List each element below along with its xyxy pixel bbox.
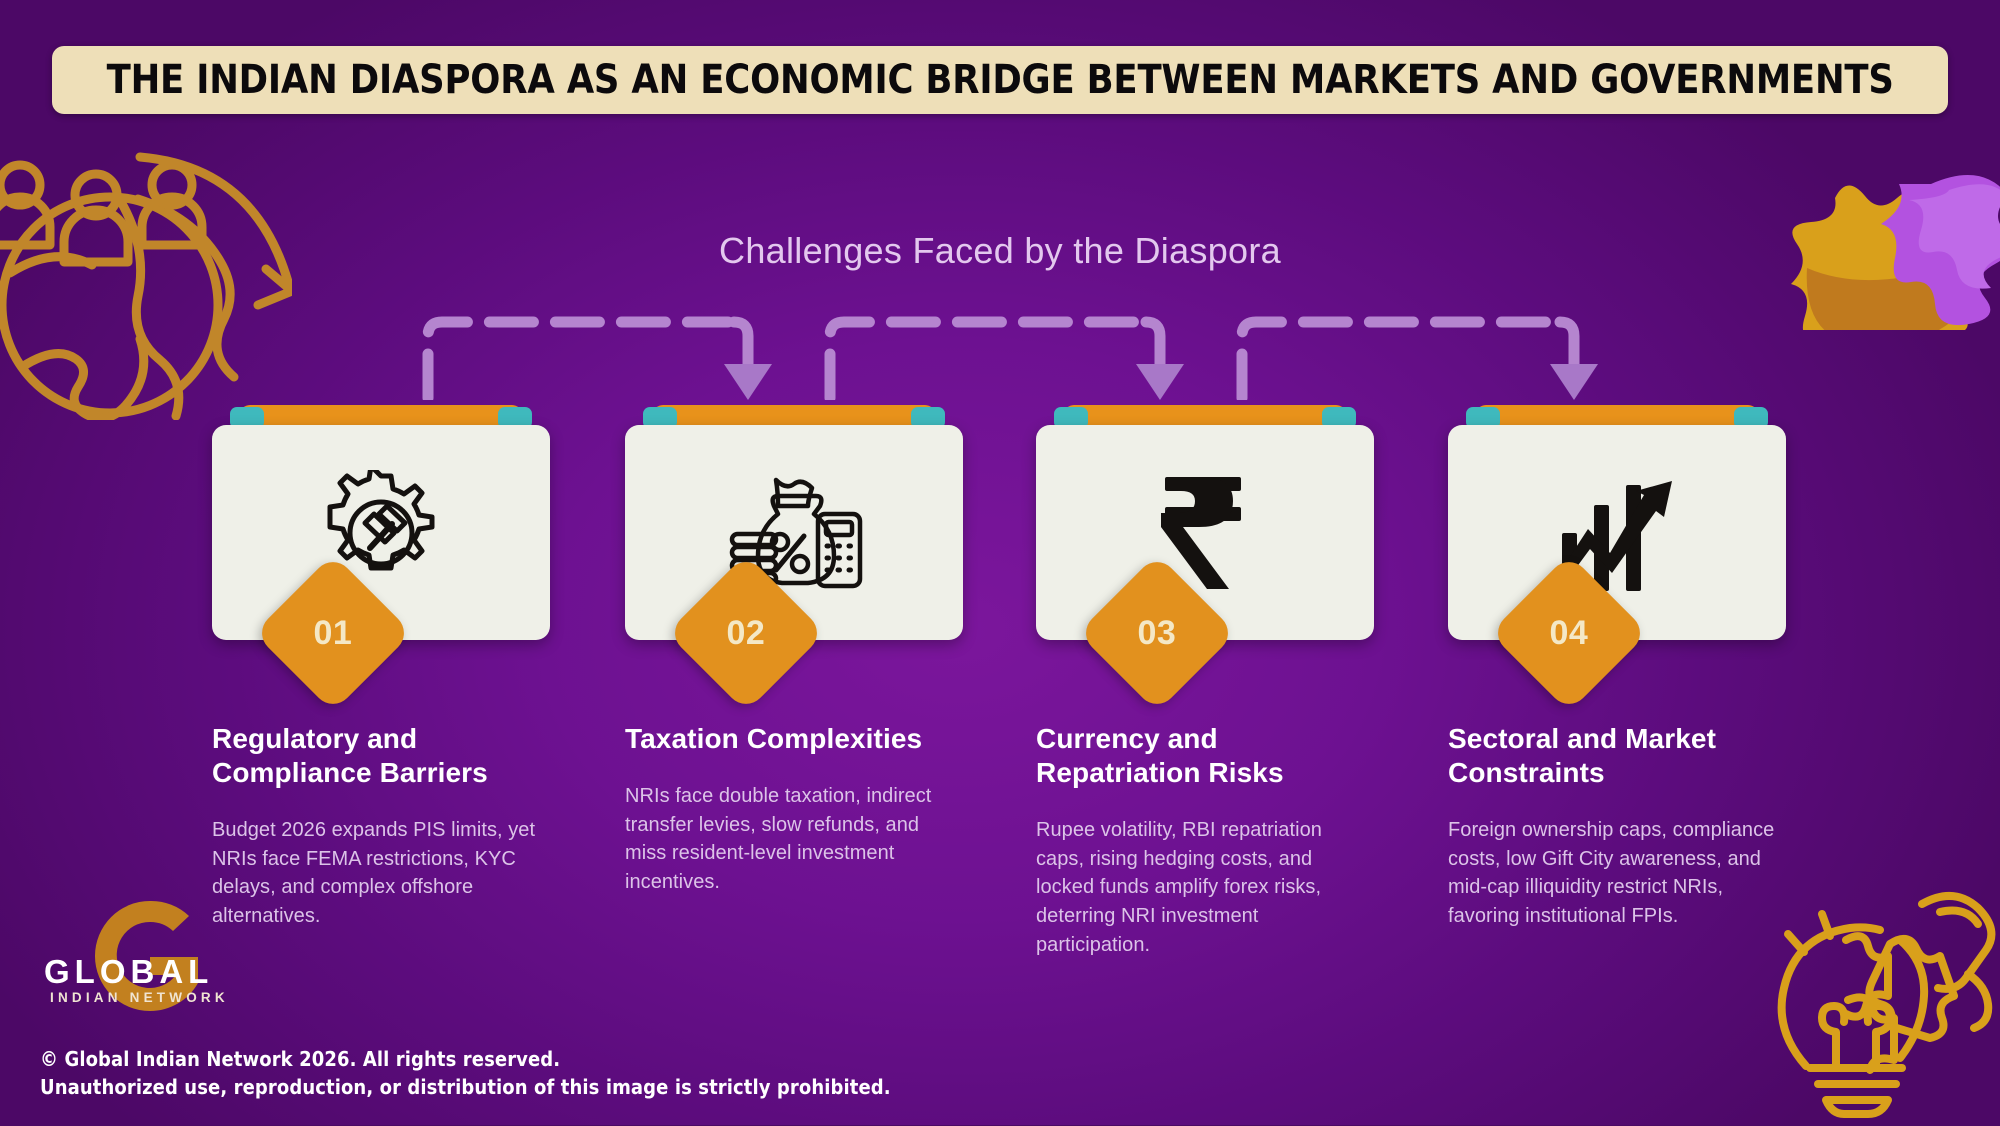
logo-wordmark: GLOBAL xyxy=(44,953,213,991)
section-subtitle: Challenges Faced by the Diaspora xyxy=(0,230,2000,272)
card-4-number: 04 xyxy=(1550,613,1589,652)
card-1-heading: Regulatory and Compliance Barriers xyxy=(212,722,557,790)
card-4-visual: 04 xyxy=(1448,405,1786,640)
brand-logo[interactable]: GLOBAL INDIAN NETWORK xyxy=(36,895,251,1015)
footer-copyright: © Global Indian Network 2026. All rights… xyxy=(40,1045,891,1102)
card-3[interactable]: 03 Currency and Repatriation Risks Rupee… xyxy=(1036,405,1451,960)
card-3-number: 03 xyxy=(1138,613,1177,652)
card-4-heading: Sectoral and Market Constraints xyxy=(1448,722,1793,790)
card-2[interactable]: 02 Taxation Complexities NRIs face doubl… xyxy=(625,405,1040,897)
card-3-visual: 03 xyxy=(1036,405,1374,640)
footer-line-1: © Global Indian Network 2026. All rights… xyxy=(40,1045,891,1073)
card-1-description: Budget 2026 expands PIS limits, yet NRIs… xyxy=(212,816,542,931)
globe-people-icon xyxy=(0,145,292,420)
card-1[interactable]: 01 Regulatory and Compliance Barriers Bu… xyxy=(212,405,627,931)
card-1-visual: 01 xyxy=(212,405,550,640)
card-1-number: 01 xyxy=(314,613,353,652)
logo-tagline: INDIAN NETWORK xyxy=(50,990,229,1005)
title-banner: THE INDIAN DIASPORA AS AN ECONOMIC BRIDG… xyxy=(52,46,1948,114)
card-2-number: 02 xyxy=(727,613,766,652)
card-2-description: NRIs face double taxation, indirect tran… xyxy=(625,782,955,897)
card-2-heading: Taxation Complexities xyxy=(625,722,970,756)
infographic-canvas: THE INDIAN DIASPORA AS AN ECONOMIC BRIDG… xyxy=(0,0,2000,1125)
card-4[interactable]: 04 Sectoral and Market Constraints Forei… xyxy=(1448,405,1863,931)
footer-line-2: Unauthorized use, reproduction, or distr… xyxy=(40,1073,891,1101)
card-3-description: Rupee volatility, RBI repatriation caps,… xyxy=(1036,816,1366,960)
page-title: THE INDIAN DIASPORA AS AN ECONOMIC BRIDG… xyxy=(106,57,1893,103)
card-3-heading: Currency and Repatriation Risks xyxy=(1036,722,1381,790)
card-4-description: Foreign ownership caps, compliance costs… xyxy=(1448,816,1778,931)
connector-arrows xyxy=(380,300,1620,400)
card-2-visual: 02 xyxy=(625,405,963,640)
